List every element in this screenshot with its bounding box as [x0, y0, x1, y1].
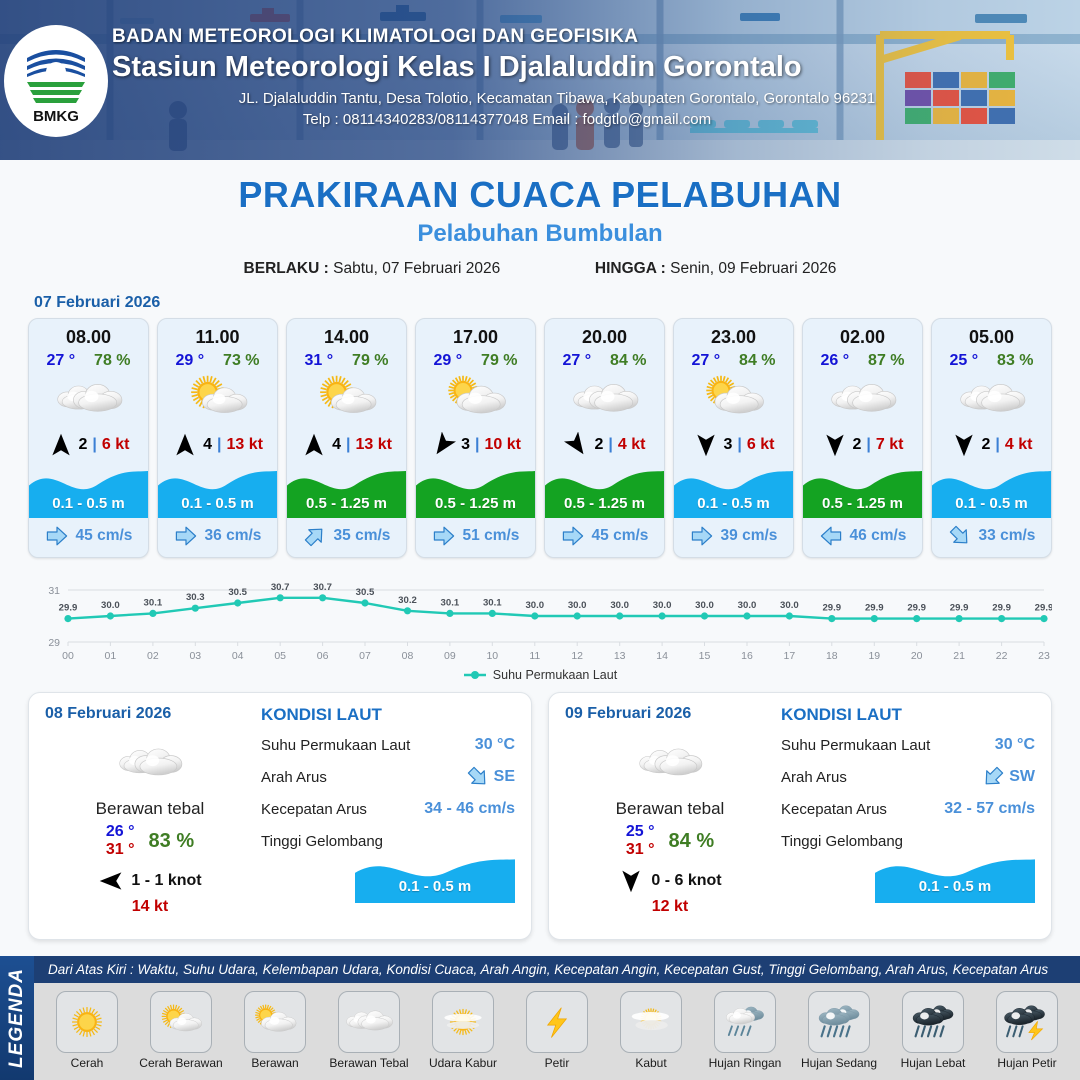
legend-icon-box [996, 991, 1058, 1053]
wave-height: 0.1 - 0.5 m [932, 495, 1051, 512]
forecast-wave: 0.5 - 1.25 m [545, 462, 664, 518]
forecast-wind: 2 | 6 kt [29, 430, 148, 460]
forecast-wave: 0.1 - 0.5 m [674, 462, 793, 518]
sea-row-label: Suhu Permukaan Laut [261, 737, 410, 754]
sea-condition-title: KONDISI LAUT [261, 705, 515, 725]
forecast-temperature: 26 ° [820, 352, 849, 370]
wind-direction-icon [98, 868, 124, 894]
wind-separator: | [866, 436, 870, 454]
current-direction-icon [561, 524, 585, 548]
svg-text:29: 29 [48, 637, 60, 649]
forecast-weather-icon-wrap [287, 372, 406, 428]
berawan-tebal-icon [341, 999, 397, 1045]
svg-text:05: 05 [274, 650, 286, 662]
legend-icon-box [526, 991, 588, 1053]
forecast-time: 11.00 [158, 319, 277, 348]
forecast-wave: 0.1 - 0.5 m [932, 462, 1051, 518]
station-contact: Telp : 08114340283/08114377048 Email : f… [112, 111, 902, 128]
forecast-time: 05.00 [932, 319, 1051, 348]
sea-row-value: 30 °C [475, 736, 515, 754]
berawan-icon [247, 999, 303, 1045]
forecast-current: 33 cm/s [932, 518, 1051, 557]
svg-text:08: 08 [402, 650, 414, 662]
svg-text:30.3: 30.3 [186, 592, 205, 603]
summary-gust: 14 kt [45, 898, 255, 916]
wave-graphic [355, 851, 515, 903]
current-direction-icon [948, 524, 972, 548]
forecast-wind: 3 | 6 kt [674, 430, 793, 460]
wind-separator: | [995, 436, 999, 454]
current-speed: 36 cm/s [205, 527, 262, 545]
forecast-humidity: 83 % [997, 352, 1033, 370]
legend-icon-box [56, 991, 118, 1053]
forecast-current: 45 cm/s [545, 518, 664, 557]
day-summary-panels: 08 Februari 2026 Berawan tebal 26 ° [0, 682, 1080, 940]
forecast-wave: 0.1 - 0.5 m [29, 462, 148, 518]
summary-weather-icon-wrap [45, 735, 255, 793]
summary-temp-max: 31 ° [626, 841, 655, 859]
forecast-temperature: 27 ° [46, 352, 75, 370]
legend-note: Dari Atas Kiri : Waktu, Suhu Udara, Kele… [34, 956, 1080, 983]
legend-item-label: Berawan [251, 1056, 298, 1070]
sea-row-label: Suhu Permukaan Laut [781, 737, 930, 754]
svg-text:09: 09 [444, 650, 456, 662]
legend-icon-box [338, 991, 400, 1053]
wind-speed: 4 [332, 436, 341, 454]
station-name: Stasiun Meteorologi Kelas I Djalaluddin … [112, 51, 1012, 84]
forecast-wave: 0.1 - 0.5 m [158, 462, 277, 518]
legend-item-label: Hujan Petir [997, 1056, 1056, 1070]
forecast-wind: 2 | 4 kt [545, 430, 664, 460]
sea-row-label: Arah Arus [781, 769, 847, 786]
forecast-current: 51 cm/s [416, 518, 535, 557]
summary-date: 08 Februari 2026 [45, 705, 255, 723]
wind-direction-icon [822, 432, 848, 458]
bmkg-logo-mark: BMKG [19, 36, 93, 126]
svg-text:30.2: 30.2 [398, 595, 417, 606]
sea-row-value: 34 - 46 cm/s [424, 800, 515, 818]
berawan-icon [437, 373, 515, 427]
legend-item-label: Hujan Ringan [709, 1056, 782, 1070]
current-direction-icon [303, 524, 327, 548]
legend-item: Berawan Tebal [323, 991, 415, 1070]
sea-row-sst: Suhu Permukaan Laut 30 °C [261, 729, 515, 761]
svg-text:14: 14 [656, 650, 668, 662]
forecast-card-list: 08.00 27 ° 78 % 2 [0, 318, 1080, 558]
sea-row-value: 32 - 57 cm/s [944, 800, 1035, 818]
forecast-humidity: 78 % [94, 352, 130, 370]
day-summary-panel: 08 Februari 2026 Berawan tebal 26 ° [28, 692, 532, 940]
sea-row-value: SW [1009, 768, 1035, 786]
forecast-humidity: 84 % [610, 352, 646, 370]
summary-humidity: 84 % [669, 830, 715, 853]
current-direction-icon [174, 524, 198, 548]
page-header: BMKG BADAN METEOROLOGI KLIMATOLOGI DAN G… [0, 0, 1080, 160]
forecast-temperature: 29 ° [433, 352, 462, 370]
forecast-time: 02.00 [803, 319, 922, 348]
svg-text:22: 22 [996, 650, 1008, 662]
svg-text:00: 00 [62, 650, 74, 662]
summary-gust: 12 kt [565, 898, 775, 916]
legend-item: Udara Kabur [417, 991, 509, 1070]
wind-direction-icon [693, 432, 719, 458]
hingga-label: HINGGA : [595, 260, 666, 277]
forecast-temperature: 27 ° [562, 352, 591, 370]
legend-side-text: LEGENDA [6, 968, 28, 1068]
summary-wave-height: 0.1 - 0.5 m [875, 878, 1035, 895]
svg-text:31: 31 [48, 585, 60, 597]
forecast-humidity: 73 % [223, 352, 259, 370]
forecast-card: 14.00 31 ° 79 % 4 | 13 kt [286, 318, 407, 558]
svg-text:30.0: 30.0 [695, 600, 714, 611]
legend-item-label: Udara Kabur [429, 1056, 497, 1070]
forecast-temperature: 31 ° [304, 352, 333, 370]
svg-text:30.0: 30.0 [610, 600, 629, 611]
wave-height: 0.1 - 0.5 m [158, 495, 277, 512]
berlaku-label: BERLAKU : [244, 260, 329, 277]
gust-speed: 6 kt [102, 436, 130, 454]
forecast-wind: 2 | 7 kt [803, 430, 922, 460]
svg-text:17: 17 [784, 650, 796, 662]
forecast-weather-icon-wrap [29, 372, 148, 428]
sea-condition-title: KONDISI LAUT [781, 705, 1035, 725]
forecast-humidity: 79 % [481, 352, 517, 370]
legend-side-label: LEGENDA [0, 956, 34, 1080]
legend-item: Kabut [605, 991, 697, 1070]
svg-text:03: 03 [189, 650, 201, 662]
svg-text:BMKG: BMKG [33, 108, 79, 125]
cerah-berawan-icon [179, 373, 257, 427]
legend-item: Hujan Petir [981, 991, 1073, 1070]
svg-text:29.9: 29.9 [907, 603, 926, 614]
legend-icon-box [808, 991, 870, 1053]
forecast-time: 14.00 [287, 319, 406, 348]
forecast-card: 17.00 29 ° 79 % 3 | 10 kt [415, 318, 536, 558]
wind-speed: 2 [853, 436, 862, 454]
berlaku-value: Sabtu, 07 Februari 2026 [333, 260, 500, 277]
legend-item-list: Cerah Cerah Berawan Berawa [34, 983, 1080, 1080]
wind-separator: | [475, 436, 479, 454]
berawan-tebal-icon [566, 373, 644, 427]
wave-height: 0.5 - 1.25 m [416, 495, 535, 512]
sst-chart-canvas: 2931000102030405060708091011121314151617… [28, 572, 1052, 664]
wave-graphic [875, 851, 1035, 903]
forecast-temperature: 27 ° [691, 352, 720, 370]
forecast-humidity: 87 % [868, 352, 904, 370]
summary-wind: 0 - 6 knot [565, 868, 775, 894]
title-block: PRAKIRAAN CUACA PELABUHAN Pelabuhan Bumb… [0, 160, 1080, 278]
svg-text:30.1: 30.1 [144, 597, 163, 608]
current-direction-icon [466, 765, 490, 789]
berawan-tebal-icon [632, 738, 708, 790]
wave-height: 0.5 - 1.25 m [287, 495, 406, 512]
forecast-time: 23.00 [674, 319, 793, 348]
wave-height: 0.5 - 1.25 m [803, 495, 922, 512]
wind-direction-icon [48, 432, 74, 458]
svg-text:20: 20 [911, 650, 923, 662]
forecast-current: 46 cm/s [803, 518, 922, 557]
sea-row-label: Tinggi Gelombang [261, 833, 383, 850]
legend-bar: LEGENDA Dari Atas Kiri : Waktu, Suhu Uda… [0, 956, 1080, 1080]
svg-text:19: 19 [868, 650, 880, 662]
forecast-day-label: 07 Februari 2026 [34, 294, 1080, 312]
legend-marker-icon [463, 670, 487, 680]
summary-wind-range: 1 - 1 knot [131, 872, 201, 890]
sea-row-label: Tinggi Gelombang [781, 833, 903, 850]
forecast-temperature: 29 ° [175, 352, 204, 370]
legend-item: Cerah [41, 991, 133, 1070]
svg-text:30.0: 30.0 [101, 600, 120, 611]
chart-legend-label: Suhu Permukaan Laut [493, 668, 617, 682]
gust-speed: 4 kt [618, 436, 646, 454]
forecast-wave: 0.5 - 1.25 m [803, 462, 922, 518]
gust-speed: 13 kt [355, 436, 391, 454]
wind-direction-icon [301, 432, 327, 458]
gust-speed: 10 kt [484, 436, 520, 454]
current-speed: 45 cm/s [592, 527, 649, 545]
legend-item-label: Berawan Tebal [329, 1056, 408, 1070]
hujan-lebat-icon [905, 999, 961, 1045]
forecast-current: 36 cm/s [158, 518, 277, 557]
wave-height: 0.1 - 0.5 m [29, 495, 148, 512]
summary-wind-range: 0 - 6 knot [651, 872, 721, 890]
forecast-wave: 0.5 - 1.25 m [416, 462, 535, 518]
wind-speed: 2 [982, 436, 991, 454]
forecast-card: 11.00 29 ° 73 % 4 | 13 kt [157, 318, 278, 558]
sea-row-value: SE [494, 768, 515, 786]
kabut-icon [623, 999, 679, 1045]
forecast-wind: 4 | 13 kt [158, 430, 277, 460]
berawan-tebal-icon [824, 373, 902, 427]
svg-text:29.9: 29.9 [992, 603, 1011, 614]
svg-text:11: 11 [529, 650, 540, 662]
svg-text:29.9: 29.9 [822, 603, 841, 614]
sea-row-current-dir: Arah Arus SW [781, 761, 1035, 793]
wind-speed: 2 [79, 436, 88, 454]
forecast-humidity: 84 % [739, 352, 775, 370]
wind-direction-icon [618, 868, 644, 894]
forecast-card: 23.00 27 ° 84 % 3 | 6 kt [673, 318, 794, 558]
svg-text:30.0: 30.0 [780, 600, 799, 611]
current-speed: 45 cm/s [76, 527, 133, 545]
wind-direction-icon [951, 432, 977, 458]
legend-item: Hujan Sedang [793, 991, 885, 1070]
legend-item-label: Cerah Berawan [139, 1056, 222, 1070]
svg-text:10: 10 [486, 650, 498, 662]
page-title: PRAKIRAAN CUACA PELABUHAN [0, 174, 1080, 216]
svg-text:30.1: 30.1 [441, 597, 460, 608]
summary-date: 09 Februari 2026 [565, 705, 775, 723]
legend-item-label: Kabut [635, 1056, 666, 1070]
gust-speed: 7 kt [876, 436, 904, 454]
svg-text:16: 16 [741, 650, 753, 662]
sea-row-sst: Suhu Permukaan Laut 30 °C [781, 729, 1035, 761]
legend-item: Petir [511, 991, 603, 1070]
forecast-current: 39 cm/s [674, 518, 793, 557]
chart-legend: Suhu Permukaan Laut [0, 668, 1080, 682]
summary-humidity: 83 % [149, 830, 195, 853]
forecast-humidity: 79 % [352, 352, 388, 370]
forecast-card: 05.00 25 ° 83 % 2 [931, 318, 1052, 558]
svg-text:01: 01 [105, 650, 117, 662]
legend-item-label: Hujan Sedang [801, 1056, 877, 1070]
forecast-wind: 4 | 13 kt [287, 430, 406, 460]
legend-icon-box [432, 991, 494, 1053]
sea-row-value: 30 °C [995, 736, 1035, 754]
current-speed: 39 cm/s [721, 527, 778, 545]
summary-temp-min: 25 ° [626, 823, 655, 841]
current-direction-icon [819, 524, 843, 548]
svg-text:30.5: 30.5 [228, 587, 247, 598]
wind-direction-icon [564, 432, 590, 458]
wind-direction-icon [172, 432, 198, 458]
wind-separator: | [346, 436, 350, 454]
cerah-berawan-icon [308, 373, 386, 427]
legend-icon-box [244, 991, 306, 1053]
wave-height: 0.1 - 0.5 m [674, 495, 793, 512]
current-speed: 51 cm/s [463, 527, 520, 545]
forecast-wind: 3 | 10 kt [416, 430, 535, 460]
legend-item: Hujan Lebat [887, 991, 979, 1070]
cerah-berawan-icon [153, 999, 209, 1045]
wind-direction-icon [430, 432, 456, 458]
udara-kabur-icon [435, 999, 491, 1045]
forecast-temperature: 25 ° [949, 352, 978, 370]
svg-text:15: 15 [699, 650, 711, 662]
wind-speed: 3 [724, 436, 733, 454]
current-speed: 46 cm/s [850, 527, 907, 545]
sea-row-current-speed: Kecepatan Arus 34 - 46 cm/s [261, 793, 515, 825]
hujan-ringan-icon [717, 999, 773, 1045]
forecast-time: 08.00 [29, 319, 148, 348]
svg-text:04: 04 [232, 650, 244, 662]
forecast-current: 35 cm/s [287, 518, 406, 557]
port-name: Pelabuhan Bumbulan [0, 220, 1080, 248]
current-direction-icon [45, 524, 69, 548]
current-direction-icon [432, 524, 456, 548]
summary-temp-max: 31 ° [106, 841, 135, 859]
summary-temp-min: 26 ° [106, 823, 135, 841]
svg-text:30.5: 30.5 [356, 587, 375, 598]
legend-item-label: Petir [545, 1056, 570, 1070]
forecast-wave: 0.5 - 1.25 m [287, 462, 406, 518]
wave-height: 0.5 - 1.25 m [545, 495, 664, 512]
petir-icon [529, 999, 585, 1045]
legend-icon-box [150, 991, 212, 1053]
station-address: JL. Djalaluddin Tantu, Desa Tolotio, Kec… [112, 90, 1002, 107]
berawan-tebal-icon [953, 373, 1031, 427]
legend-item: Berawan [229, 991, 321, 1070]
current-speed: 33 cm/s [979, 527, 1036, 545]
forecast-weather-icon-wrap [932, 372, 1051, 428]
wind-separator: | [92, 436, 96, 454]
summary-condition: Berawan tebal [565, 799, 775, 819]
legend-icon-box [620, 991, 682, 1053]
svg-text:30.7: 30.7 [271, 582, 290, 593]
legend-item: Hujan Ringan [699, 991, 791, 1070]
gust-speed: 6 kt [747, 436, 775, 454]
summary-wave: 0.1 - 0.5 m [875, 851, 1035, 903]
bmkg-logo: BMKG [4, 25, 108, 137]
wind-separator: | [608, 436, 612, 454]
svg-text:29.9: 29.9 [865, 603, 884, 614]
forecast-weather-icon-wrap [158, 372, 277, 428]
sst-chart: 2931000102030405060708091011121314151617… [28, 572, 1052, 664]
svg-text:30.0: 30.0 [653, 600, 672, 611]
berawan-tebal-icon [50, 373, 128, 427]
svg-text:30.7: 30.7 [313, 582, 332, 593]
forecast-time: 20.00 [545, 319, 664, 348]
hingga-value: Senin, 09 Februari 2026 [670, 260, 836, 277]
svg-text:21: 21 [953, 650, 965, 662]
legend-item-label: Hujan Lebat [901, 1056, 966, 1070]
berawan-icon [695, 373, 773, 427]
wind-speed: 2 [595, 436, 604, 454]
svg-text:30.1: 30.1 [483, 597, 502, 608]
wind-separator: | [737, 436, 741, 454]
svg-text:13: 13 [614, 650, 626, 662]
current-direction-icon [981, 765, 1005, 789]
legend-item-label: Cerah [71, 1056, 104, 1070]
hujan-sedang-icon [811, 999, 867, 1045]
legend-item: Cerah Berawan [135, 991, 227, 1070]
hujan-petir-icon [999, 999, 1055, 1045]
day-summary-panel: 09 Februari 2026 Berawan tebal 25 ° [548, 692, 1052, 940]
svg-text:29.9: 29.9 [950, 603, 969, 614]
svg-text:06: 06 [317, 650, 329, 662]
svg-text:29.9: 29.9 [59, 603, 78, 614]
wind-speed: 4 [203, 436, 212, 454]
berawan-tebal-icon [112, 738, 188, 790]
svg-text:29.9: 29.9 [1035, 603, 1052, 614]
agency-name: BADAN METEOROLOGI KLIMATOLOGI DAN GEOFIS… [112, 26, 1012, 48]
svg-text:23: 23 [1038, 650, 1050, 662]
forecast-card: 02.00 26 ° 87 % 2 [802, 318, 923, 558]
legend-icon-box [902, 991, 964, 1053]
gust-speed: 4 kt [1005, 436, 1033, 454]
svg-text:30.0: 30.0 [525, 600, 544, 611]
current-direction-icon [690, 524, 714, 548]
summary-weather-icon-wrap [565, 735, 775, 793]
sea-row-label: Kecepatan Arus [261, 801, 367, 818]
sea-row-current-speed: Kecepatan Arus 32 - 57 cm/s [781, 793, 1035, 825]
svg-text:12: 12 [571, 650, 583, 662]
forecast-current: 45 cm/s [29, 518, 148, 557]
forecast-card: 08.00 27 ° 78 % 2 [28, 318, 149, 558]
current-speed: 35 cm/s [334, 527, 391, 545]
svg-text:30.0: 30.0 [568, 600, 587, 611]
sea-row-label: Arah Arus [261, 769, 327, 786]
summary-condition: Berawan tebal [45, 799, 255, 819]
forecast-weather-icon-wrap [545, 372, 664, 428]
legend-icon-box [714, 991, 776, 1053]
validity-row: BERLAKU : Sabtu, 07 Februari 2026 HINGGA… [0, 260, 1080, 278]
summary-wave-height: 0.1 - 0.5 m [355, 878, 515, 895]
sea-row-current-dir: Arah Arus SE [261, 761, 515, 793]
cerah-icon [59, 999, 115, 1045]
svg-text:30.0: 30.0 [738, 600, 757, 611]
gust-speed: 13 kt [226, 436, 262, 454]
wind-separator: | [217, 436, 221, 454]
forecast-weather-icon-wrap [416, 372, 535, 428]
svg-text:07: 07 [359, 650, 371, 662]
wind-speed: 3 [461, 436, 470, 454]
forecast-weather-icon-wrap [674, 372, 793, 428]
svg-text:02: 02 [147, 650, 159, 662]
sea-row-label: Kecepatan Arus [781, 801, 887, 818]
forecast-weather-icon-wrap [803, 372, 922, 428]
svg-text:18: 18 [826, 650, 838, 662]
